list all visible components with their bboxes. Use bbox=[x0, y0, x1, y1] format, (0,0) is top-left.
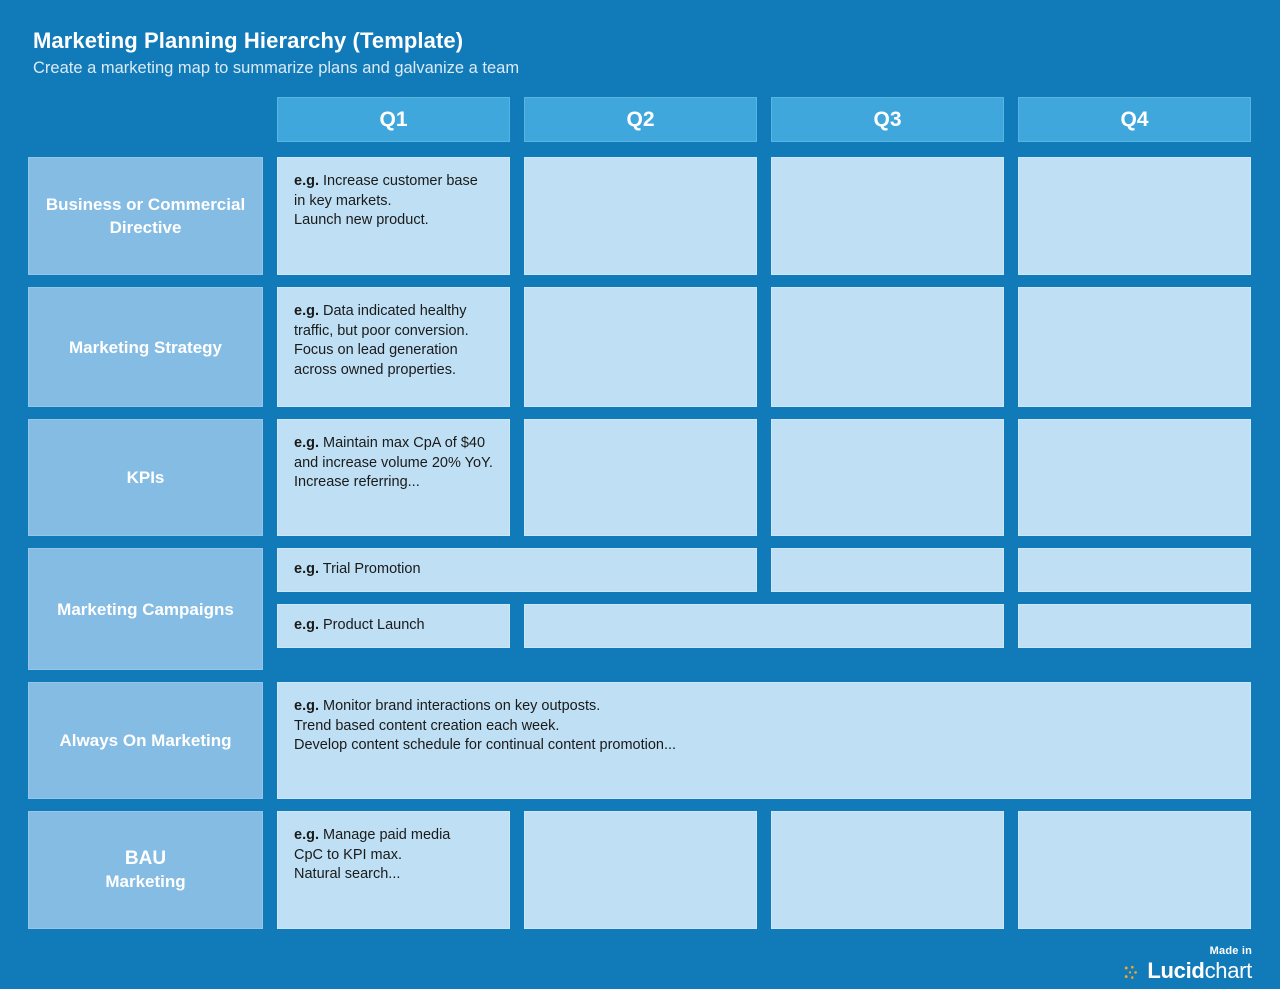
row-header-text: BAU Marketing bbox=[105, 847, 185, 893]
cell-bau-marketing-q1[interactable]: e.g. Manage paid media CpC to KPI max. N… bbox=[277, 811, 510, 929]
cell-kpis-q1[interactable]: e.g. Maintain max CpA of $40 and increas… bbox=[277, 419, 510, 536]
brand-name-light: chart bbox=[1205, 958, 1252, 983]
cell-campaign-trial-promotion-q1q2[interactable]: e.g. Trial Promotion bbox=[277, 548, 757, 592]
column-gap bbox=[757, 548, 771, 592]
row-header-bau-marketing[interactable]: BAU Marketing bbox=[28, 811, 263, 929]
table-row: Always On Marketing e.g. Monitor brand i… bbox=[0, 682, 1280, 799]
document-header: Marketing Planning Hierarchy (Template) … bbox=[33, 28, 933, 78]
eg-prefix: e.g. bbox=[294, 435, 319, 451]
campaign-sub-row-2: e.g. Product Launch bbox=[277, 604, 1252, 648]
column-gap bbox=[757, 157, 771, 275]
made-in-label: Made in bbox=[1122, 945, 1252, 958]
cell-kpis-q2[interactable] bbox=[524, 419, 757, 536]
table-row: KPIs e.g. Maintain max CpA of $40 and in… bbox=[0, 419, 1280, 536]
row-header-marketing-campaigns[interactable]: Marketing Campaigns bbox=[28, 548, 263, 670]
cell-marketing-strategy-q1[interactable]: e.g. Data indicated healthy traffic, but… bbox=[277, 287, 510, 407]
row-gap bbox=[0, 275, 1280, 287]
column-gap bbox=[1004, 157, 1018, 275]
row-header-label-primary: BAU bbox=[105, 847, 185, 870]
column-gap bbox=[1004, 287, 1018, 407]
cell-bau-marketing-q2[interactable] bbox=[524, 811, 757, 929]
eg-prefix: e.g. bbox=[294, 617, 319, 633]
eg-prefix: e.g. bbox=[294, 561, 319, 577]
column-gap bbox=[1004, 97, 1018, 142]
brand-name-bold: Lucid bbox=[1147, 958, 1204, 983]
column-gap bbox=[510, 604, 524, 648]
row-gap bbox=[0, 670, 1280, 682]
cell-text: e.g. Maintain max CpA of $40 and increas… bbox=[294, 434, 493, 473]
eg-prefix: e.g. bbox=[294, 827, 319, 843]
cell-bau-marketing-q3[interactable] bbox=[771, 811, 1004, 929]
cell-business-directive-q2[interactable] bbox=[524, 157, 757, 275]
column-gap bbox=[510, 811, 524, 929]
cell-text: e.g. Monitor brand interactions on key o… bbox=[294, 697, 1234, 717]
cell-line-1: Product Launch bbox=[319, 617, 425, 633]
eg-prefix: e.g. bbox=[294, 698, 319, 714]
row-gap bbox=[0, 536, 1280, 548]
quarter-header-row: Q1 Q2 Q3 Q4 bbox=[0, 97, 1280, 142]
lucidchart-logo-icon bbox=[1122, 963, 1141, 982]
cell-campaign-sub2-q4[interactable] bbox=[1018, 604, 1251, 648]
lucidchart-wordmark: Lucidchart bbox=[1147, 959, 1252, 983]
row-header-label-secondary: Marketing bbox=[105, 870, 185, 893]
row-header-marketing-strategy[interactable]: Marketing Strategy bbox=[28, 287, 263, 407]
row-header-kpis[interactable]: KPIs bbox=[28, 419, 263, 536]
eg-prefix: e.g. bbox=[294, 303, 319, 319]
matrix-corner-spacer bbox=[0, 97, 277, 142]
cell-text: e.g. Data indicated healthy traffic, but… bbox=[294, 302, 493, 341]
cell-campaign-sub1-q4[interactable] bbox=[1018, 548, 1251, 592]
column-gap bbox=[1004, 419, 1018, 536]
quarter-header-q3[interactable]: Q3 bbox=[771, 97, 1004, 142]
cell-business-directive-q1[interactable]: e.g. Increase customer base in key marke… bbox=[277, 157, 510, 275]
cell-line-1: Manage paid media bbox=[319, 827, 450, 843]
cell-line-2: Focus on lead generation across owned pr… bbox=[294, 341, 493, 380]
cell-campaign-sub2-q2q3[interactable] bbox=[524, 604, 1004, 648]
column-gap bbox=[757, 811, 771, 929]
column-gap bbox=[757, 287, 771, 407]
cell-text: e.g. Product Launch bbox=[294, 616, 493, 635]
column-gap bbox=[1004, 548, 1018, 592]
table-row: Business or Commercial Directive e.g. In… bbox=[0, 157, 1280, 275]
quarter-header-q4[interactable]: Q4 bbox=[1018, 97, 1251, 142]
cell-line-1: Data indicated healthy traffic, but poor… bbox=[294, 303, 469, 339]
cell-line-1: Trial Promotion bbox=[319, 561, 421, 577]
cell-business-directive-q3[interactable] bbox=[771, 157, 1004, 275]
cell-line-3: Develop content schedule for continual c… bbox=[294, 736, 1234, 756]
cell-line-2: Trend based content creation each week. bbox=[294, 717, 1234, 737]
cell-bau-marketing-q4[interactable] bbox=[1018, 811, 1251, 929]
lucidchart-lockup[interactable]: Lucidchart bbox=[1122, 959, 1252, 983]
quarter-header-q2[interactable]: Q2 bbox=[524, 97, 757, 142]
column-gap bbox=[1004, 604, 1018, 648]
cell-marketing-strategy-q3[interactable] bbox=[771, 287, 1004, 407]
eg-prefix: e.g. bbox=[294, 173, 319, 189]
column-gap bbox=[510, 157, 524, 275]
lucidchart-attribution: Made in Lucidchart bbox=[1122, 945, 1252, 983]
column-gap bbox=[510, 97, 524, 142]
quarter-header-q1[interactable]: Q1 bbox=[277, 97, 510, 142]
page-subtitle: Create a marketing map to summarize plan… bbox=[33, 58, 933, 78]
table-row: BAU Marketing e.g. Manage paid media CpC… bbox=[0, 811, 1280, 929]
row-header-business-or-commercial-directive[interactable]: Business or Commercial Directive bbox=[28, 157, 263, 275]
cell-text: e.g. Increase customer base in key marke… bbox=[294, 172, 493, 211]
cell-always-on-marketing-all-quarters[interactable]: e.g. Monitor brand interactions on key o… bbox=[277, 682, 1251, 799]
cell-text: e.g. Trial Promotion bbox=[294, 560, 740, 579]
cell-marketing-strategy-q4[interactable] bbox=[1018, 287, 1251, 407]
cell-marketing-strategy-q2[interactable] bbox=[524, 287, 757, 407]
table-row: Marketing Campaigns e.g. Trial Promotion… bbox=[0, 548, 1280, 670]
cell-line-1: Increase customer base in key markets. bbox=[294, 173, 478, 209]
column-gap bbox=[757, 97, 771, 142]
cell-line-1: Maintain max CpA of $40 and increase vol… bbox=[294, 435, 493, 471]
cell-line-2: CpC to KPI max. bbox=[294, 846, 493, 866]
row-gap bbox=[0, 799, 1280, 811]
cell-business-directive-q4[interactable] bbox=[1018, 157, 1251, 275]
column-gap bbox=[510, 287, 524, 407]
page-title: Marketing Planning Hierarchy (Template) bbox=[33, 28, 933, 54]
cell-text: e.g. Manage paid media bbox=[294, 826, 493, 846]
table-row: Marketing Strategy e.g. Data indicated h… bbox=[0, 287, 1280, 407]
cell-campaign-sub1-q3[interactable] bbox=[771, 548, 1004, 592]
cell-line-2: Launch new product. bbox=[294, 211, 493, 231]
cell-kpis-q4[interactable] bbox=[1018, 419, 1251, 536]
cell-line-3: Natural search... bbox=[294, 865, 493, 885]
row-header-always-on-marketing[interactable]: Always On Marketing bbox=[28, 682, 263, 799]
column-gap bbox=[510, 419, 524, 536]
column-gap bbox=[1004, 811, 1018, 929]
cell-campaign-product-launch-q1[interactable]: e.g. Product Launch bbox=[277, 604, 510, 648]
planning-matrix: Q1 Q2 Q3 Q4 Business or Commercial Direc… bbox=[0, 97, 1280, 929]
cell-line-2: Increase referring... bbox=[294, 473, 493, 493]
cell-kpis-q3[interactable] bbox=[771, 419, 1004, 536]
campaign-sub-row-1: e.g. Trial Promotion bbox=[277, 548, 1252, 592]
cell-line-1: Monitor brand interactions on key outpos… bbox=[319, 698, 600, 714]
column-gap bbox=[757, 419, 771, 536]
row-gap bbox=[0, 407, 1280, 419]
